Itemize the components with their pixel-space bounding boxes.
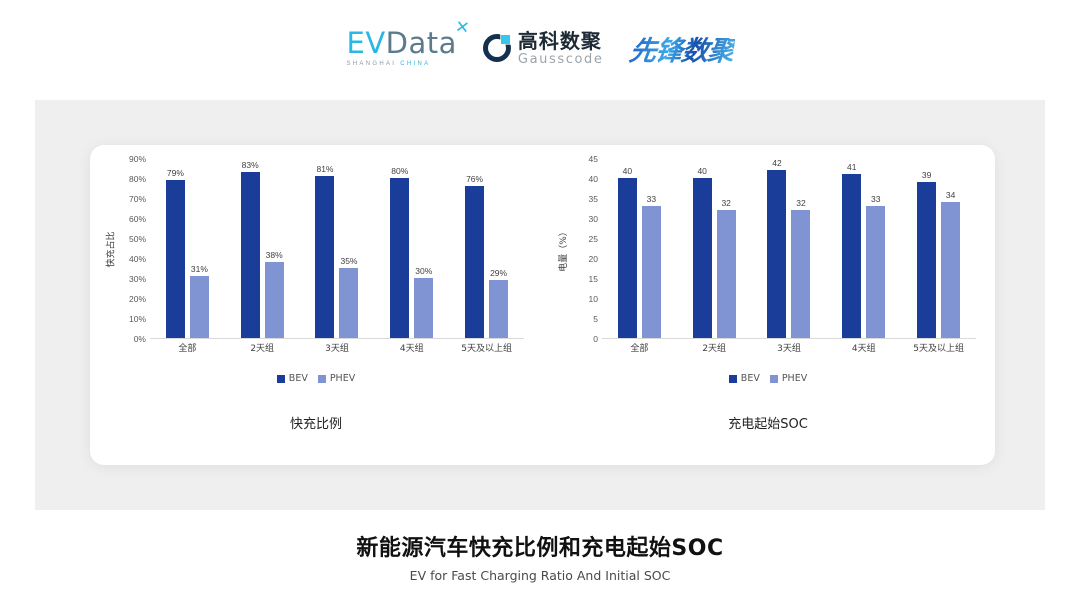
x-cross-icon: ✕ bbox=[454, 19, 471, 38]
chart0-bar-group: 80%30% bbox=[374, 159, 449, 338]
chart1-bar-value-label: 33 bbox=[866, 194, 885, 204]
chart0-ytick: 10% bbox=[129, 314, 146, 324]
chart1-x-axis-ticks: 全部2天组3天组4天组5天及以上组 bbox=[602, 341, 976, 354]
chart1-bar-value-label: 32 bbox=[717, 198, 736, 208]
chart0-bar-bev[interactable]: 81% bbox=[315, 176, 334, 338]
charts-container: 快充占比 0%10%20%30%40%50%60%70%80%90% 79%31… bbox=[90, 145, 995, 465]
chart1-legend-label-phev: PHEV bbox=[782, 373, 807, 384]
slide-root: EVData ✕ SHANGHAI CHINA 高科数聚 Gausscode 先… bbox=[0, 0, 1080, 608]
chart1-plot-area: 40334032423241333934 bbox=[602, 159, 976, 339]
chart1-ytick: 35 bbox=[589, 194, 598, 204]
chart1-bar-bev[interactable]: 42 bbox=[767, 170, 786, 338]
chart0-bar-value-label: 30% bbox=[414, 266, 433, 276]
chart1-legend-item-phev[interactable]: PHEV bbox=[770, 373, 807, 384]
chart0-xtick: 2天组 bbox=[225, 341, 300, 354]
footer: 新能源汽车快充比例和充电起始SOC EV for Fast Charging R… bbox=[0, 530, 1080, 583]
legend-swatch-bev-icon bbox=[729, 375, 737, 383]
chart1-bar-phev[interactable]: 34 bbox=[941, 202, 960, 338]
chart1-bar-group: 4133 bbox=[826, 159, 901, 338]
legend-swatch-phev-icon bbox=[318, 375, 326, 383]
chart1-bar-phev[interactable]: 33 bbox=[866, 206, 885, 338]
chart0-bar-phev[interactable]: 35% bbox=[339, 268, 358, 338]
chart0-bar-value-label: 81% bbox=[315, 164, 334, 174]
chart0-bar-phev[interactable]: 38% bbox=[265, 262, 284, 338]
chart1-bar-phev[interactable]: 32 bbox=[717, 210, 736, 338]
chart0-bar-group: 79%31% bbox=[150, 159, 225, 338]
chart0-bar-value-label: 29% bbox=[489, 268, 508, 278]
legend-swatch-phev-icon bbox=[770, 375, 778, 383]
chart0-bar-bev[interactable]: 76% bbox=[465, 186, 484, 338]
chart0-ytick: 60% bbox=[129, 214, 146, 224]
chart0-bar-value-label: 83% bbox=[241, 160, 260, 170]
chart0-legend-label-phev: PHEV bbox=[330, 373, 355, 384]
chart0-bar-value-label: 38% bbox=[265, 250, 284, 260]
chart0-bar-bev[interactable]: 83% bbox=[241, 172, 260, 338]
chart0-xtick: 3天组 bbox=[300, 341, 375, 354]
chart1-bar-value-label: 41 bbox=[842, 162, 861, 172]
chart0-y-axis-ticks: 0%10%20%30%40%50%60%70%80%90% bbox=[112, 159, 146, 339]
xianfeng-wordmark: 先锋数聚 bbox=[627, 29, 736, 68]
page-subtitle: EV for Fast Charging Ratio And Initial S… bbox=[0, 568, 1080, 583]
chart0-ytick: 80% bbox=[129, 174, 146, 184]
chart1-bar-phev[interactable]: 33 bbox=[642, 206, 661, 338]
logo-evdata: EVData ✕ SHANGHAI CHINA bbox=[347, 29, 457, 67]
chart0-bar-value-label: 80% bbox=[390, 166, 409, 176]
evdata-tagline: SHANGHAI CHINA bbox=[347, 61, 431, 67]
chart0-xtick: 全部 bbox=[150, 341, 225, 354]
chart1-ytick: 45 bbox=[589, 154, 598, 164]
chart0-bar-phev[interactable]: 30% bbox=[414, 278, 433, 338]
chart-initial-soc: 电量（%） 051015202530354045 403340324232413… bbox=[542, 145, 994, 465]
chart0-bar-phev[interactable]: 29% bbox=[489, 280, 508, 338]
chart1-xtick: 全部 bbox=[602, 341, 677, 354]
chart1-ytick: 10 bbox=[589, 294, 598, 304]
chart0-ytick: 70% bbox=[129, 194, 146, 204]
legend-swatch-bev-icon bbox=[277, 375, 285, 383]
evdata-wordmark: EVData ✕ bbox=[347, 29, 457, 58]
chart1-bar-phev[interactable]: 32 bbox=[791, 210, 810, 338]
chart0-bar-bev[interactable]: 80% bbox=[390, 178, 409, 338]
gausscode-name-cn: 高科数聚 bbox=[518, 31, 604, 51]
chart0-xtick: 4天组 bbox=[374, 341, 449, 354]
chart1-legend: BEV PHEV bbox=[542, 373, 994, 384]
charts-card: 快充占比 0%10%20%30%40%50%60%70%80%90% 79%31… bbox=[90, 145, 995, 465]
chart0-bar-group: 83%38% bbox=[225, 159, 300, 338]
chart1-y-axis-ticks: 051015202530354045 bbox=[564, 159, 598, 339]
chart0-ytick: 0% bbox=[134, 334, 146, 344]
chart1-ytick: 15 bbox=[589, 274, 598, 284]
chart0-ytick: 30% bbox=[129, 274, 146, 284]
chart0-plot-area: 79%31%83%38%81%35%80%30%76%29% bbox=[150, 159, 524, 339]
chart1-ytick: 25 bbox=[589, 234, 598, 244]
chart1-caption: 充电起始SOC bbox=[542, 413, 994, 432]
chart1-bar-value-label: 42 bbox=[767, 158, 786, 168]
chart0-legend-label-bev: BEV bbox=[289, 373, 308, 384]
chart1-bar-bev[interactable]: 41 bbox=[842, 174, 861, 338]
chart0-bar-value-label: 31% bbox=[190, 264, 209, 274]
chart1-ytick: 30 bbox=[589, 214, 598, 224]
chart1-bar-group: 4033 bbox=[602, 159, 677, 338]
chart1-bar-value-label: 40 bbox=[618, 166, 637, 176]
chart0-legend-item-bev[interactable]: BEV bbox=[277, 373, 308, 384]
chart0-xtick: 5天及以上组 bbox=[449, 341, 524, 354]
evdata-tagline-country: CHINA bbox=[400, 61, 430, 67]
evdata-word-secondary: Data bbox=[386, 26, 457, 60]
chart0-bar-phev[interactable]: 31% bbox=[190, 276, 209, 338]
chart0-bar-group: 76%29% bbox=[449, 159, 524, 338]
chart0-ytick: 90% bbox=[129, 154, 146, 164]
chart0-bar-value-label: 35% bbox=[339, 256, 358, 266]
chart0-legend: BEV PHEV bbox=[90, 373, 542, 384]
chart1-legend-label-bev: BEV bbox=[741, 373, 760, 384]
chart1-bar-value-label: 32 bbox=[791, 198, 810, 208]
chart1-bar-value-label: 39 bbox=[917, 170, 936, 180]
page-title: 新能源汽车快充比例和充电起始SOC bbox=[0, 530, 1080, 562]
chart1-legend-item-bev[interactable]: BEV bbox=[729, 373, 760, 384]
chart0-ytick: 50% bbox=[129, 234, 146, 244]
chart1-ytick: 20 bbox=[589, 254, 598, 264]
logo-gausscode: 高科数聚 Gausscode bbox=[483, 31, 604, 66]
chart0-ytick: 40% bbox=[129, 254, 146, 264]
chart0-bar-bev[interactable]: 79% bbox=[166, 180, 185, 338]
chart1-bar-value-label: 40 bbox=[693, 166, 712, 176]
gausscode-name-en: Gausscode bbox=[518, 53, 604, 66]
chart-fast-charging-ratio: 快充占比 0%10%20%30%40%50%60%70%80%90% 79%31… bbox=[90, 145, 542, 465]
chart0-ytick: 20% bbox=[129, 294, 146, 304]
chart1-xtick: 5天及以上组 bbox=[901, 341, 976, 354]
chart1-bar-bev[interactable]: 40 bbox=[693, 178, 712, 338]
evdata-word-primary: EV bbox=[347, 26, 386, 60]
chart0-legend-item-phev[interactable]: PHEV bbox=[318, 373, 355, 384]
chart1-ytick: 40 bbox=[589, 174, 598, 184]
chart1-xtick: 2天组 bbox=[677, 341, 752, 354]
chart0-caption: 快充比例 bbox=[90, 413, 542, 432]
chart0-bar-group: 81%35% bbox=[300, 159, 375, 338]
logo-xianfeng: 先锋数聚 bbox=[630, 29, 734, 68]
chart1-xtick: 3天组 bbox=[752, 341, 827, 354]
chart1-bar-value-label: 34 bbox=[941, 190, 960, 200]
chart1-bar-value-label: 33 bbox=[642, 194, 661, 204]
chart1-ytick: 0 bbox=[593, 334, 598, 344]
chart0-x-axis-ticks: 全部2天组3天组4天组5天及以上组 bbox=[150, 341, 524, 354]
gausscode-mark-icon bbox=[483, 34, 511, 62]
chart1-bar-bev[interactable]: 39 bbox=[917, 182, 936, 338]
chart1-bar-group: 3934 bbox=[901, 159, 976, 338]
chart1-xtick: 4天组 bbox=[826, 341, 901, 354]
chart1-bar-group: 4232 bbox=[752, 159, 827, 338]
chart1-bar-group: 4032 bbox=[677, 159, 752, 338]
evdata-tagline-city: SHANGHAI bbox=[347, 61, 397, 67]
logo-bar: EVData ✕ SHANGHAI CHINA 高科数聚 Gausscode 先… bbox=[0, 22, 1080, 74]
chart1-bar-bev[interactable]: 40 bbox=[618, 178, 637, 338]
chart0-bar-value-label: 76% bbox=[465, 174, 484, 184]
chart0-bar-value-label: 79% bbox=[166, 168, 185, 178]
chart1-ytick: 5 bbox=[593, 314, 598, 324]
